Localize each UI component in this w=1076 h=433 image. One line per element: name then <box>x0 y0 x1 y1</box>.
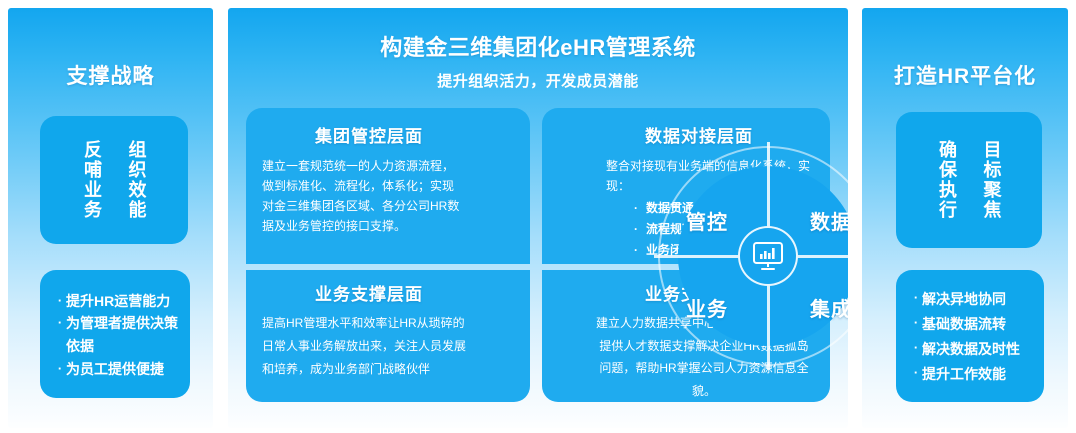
card-body-text: 整合对接现有业务端的信息化系统，实现： <box>606 156 812 196</box>
bullet-marker-icon: · <box>910 287 922 308</box>
bullet-marker-icon: · <box>54 312 66 333</box>
card-body: 建立人力数据共享中心、为管理决策分析提供人才数据支撑解决企业HR数据孤岛问题，帮… <box>596 312 812 402</box>
list-item: · 解决异地协同 <box>910 287 1032 312</box>
quadrant-card-business-support-right[interactable]: 业务支撑层面 建立人力数据共享中心、为管理决策分析提供人才数据支撑解决企业HR数… <box>542 270 830 402</box>
right-vertical-column-1: 目标聚焦 <box>979 140 1003 220</box>
list-item-label: 基础数据流转 <box>922 312 1032 337</box>
bullet-marker-icon: · <box>634 219 646 240</box>
list-item: · 基础数据流转 <box>910 312 1032 337</box>
infographic-canvas: 支撑战略 组织效能 反哺业务 · 提升HR运营能力 · 为管理者提供决策依据 ·… <box>0 0 1076 433</box>
bullet-marker-icon: · <box>910 362 922 383</box>
bullet-marker-icon: · <box>910 337 922 358</box>
quadrant-card-group-control[interactable]: 集团管控层面 建立一套规范统一的人力资源流程，做到标准化、流程化，体系化；实现对… <box>246 108 530 264</box>
list-item: · 流程规范 <box>634 219 812 240</box>
list-item: · 提升工作效能 <box>910 362 1032 387</box>
list-item: · 为员工提供便捷 <box>54 358 178 381</box>
list-item-label: 提升HR运营能力 <box>66 290 178 313</box>
quadrant-card-business-support-left[interactable]: 业务支撑层面 提高HR管理水平和效率让HR从琐碎的日常人事业务解放出来，关注人员… <box>246 270 530 402</box>
left-panel: 支撑战略 组织效能 反哺业务 · 提升HR运营能力 · 为管理者提供决策依据 ·… <box>8 8 213 428</box>
left-panel-title: 支撑战略 <box>8 60 213 90</box>
right-vertical-column-2: 确保执行 <box>935 140 959 220</box>
list-item: · 解决数据及时性 <box>910 337 1032 362</box>
list-item-label: 业务闭环 <box>646 240 694 261</box>
right-panel: 打造HR平台化 目标聚焦 确保执行 · 解决异地协同 · 基础数据流转 · 解决… <box>862 8 1068 428</box>
right-bullet-box: · 解决异地协同 · 基础数据流转 · 解决数据及时性 · 提升工作效能 <box>896 270 1044 402</box>
list-item-label: 为员工提供便捷 <box>66 358 178 381</box>
left-vertical-text-box: 组织效能 反哺业务 <box>40 116 188 244</box>
quadrant-card-data-integration[interactable]: 数据对接层面 整合对接现有业务端的信息化系统，实现： · 数据贯通 · 流程规范… <box>542 108 830 264</box>
list-item-label: 提升工作效能 <box>922 362 1032 387</box>
list-item-label: 为管理者提供决策依据 <box>66 312 178 357</box>
page-title: 构建金三维集团化eHR管理系统 <box>228 30 848 62</box>
center-panel: 构建金三维集团化eHR管理系统 提升组织活力，开发成员潜能 集团管控层面 建立一… <box>228 8 848 428</box>
card-heading: 业务支撑层面 <box>262 280 476 305</box>
bullet-marker-icon: · <box>54 290 66 311</box>
list-item-label: 流程规范 <box>646 219 694 240</box>
list-item: · 数据贯通 <box>634 198 812 219</box>
bullet-marker-icon: · <box>634 198 646 219</box>
left-vertical-column-1: 组织效能 <box>124 140 148 220</box>
bullet-marker-icon: · <box>910 312 922 333</box>
left-vertical-column-2: 反哺业务 <box>80 140 104 220</box>
bullet-marker-icon: · <box>634 240 646 261</box>
card-heading: 业务支撑层面 <box>586 280 812 305</box>
card-heading: 集团管控层面 <box>262 122 476 147</box>
card-body: 建立一套规范统一的人力资源流程，做到标准化、流程化，体系化；实现对金三维集团各区… <box>262 156 462 237</box>
list-item-label: 解决异地协同 <box>922 287 1032 312</box>
right-vertical-text-box: 目标聚焦 确保执行 <box>896 112 1042 248</box>
right-panel-title: 打造HR平台化 <box>862 60 1068 90</box>
page-subtitle: 提升组织活力，开发成员潜能 <box>228 70 848 91</box>
card-body: 提高HR管理水平和效率让HR从琐碎的日常人事业务解放出来，关注人员发展和培养，成… <box>262 312 470 381</box>
list-item-label: 数据贯通 <box>646 198 694 219</box>
card-heading: 数据对接层面 <box>586 122 812 147</box>
bullet-marker-icon: · <box>54 358 66 379</box>
list-item: · 业务闭环 <box>634 240 812 261</box>
left-bullet-box: · 提升HR运营能力 · 为管理者提供决策依据 · 为员工提供便捷 <box>40 270 190 398</box>
list-item-label: 解决数据及时性 <box>922 337 1032 362</box>
list-item: · 提升HR运营能力 <box>54 290 178 313</box>
card-body: 整合对接现有业务端的信息化系统，实现： · 数据贯通 · 流程规范 · 业务闭环 <box>606 156 812 260</box>
list-item: · 为管理者提供决策依据 <box>54 312 178 357</box>
card-sub-bullet-list: · 数据贯通 · 流程规范 · 业务闭环 <box>606 198 812 260</box>
